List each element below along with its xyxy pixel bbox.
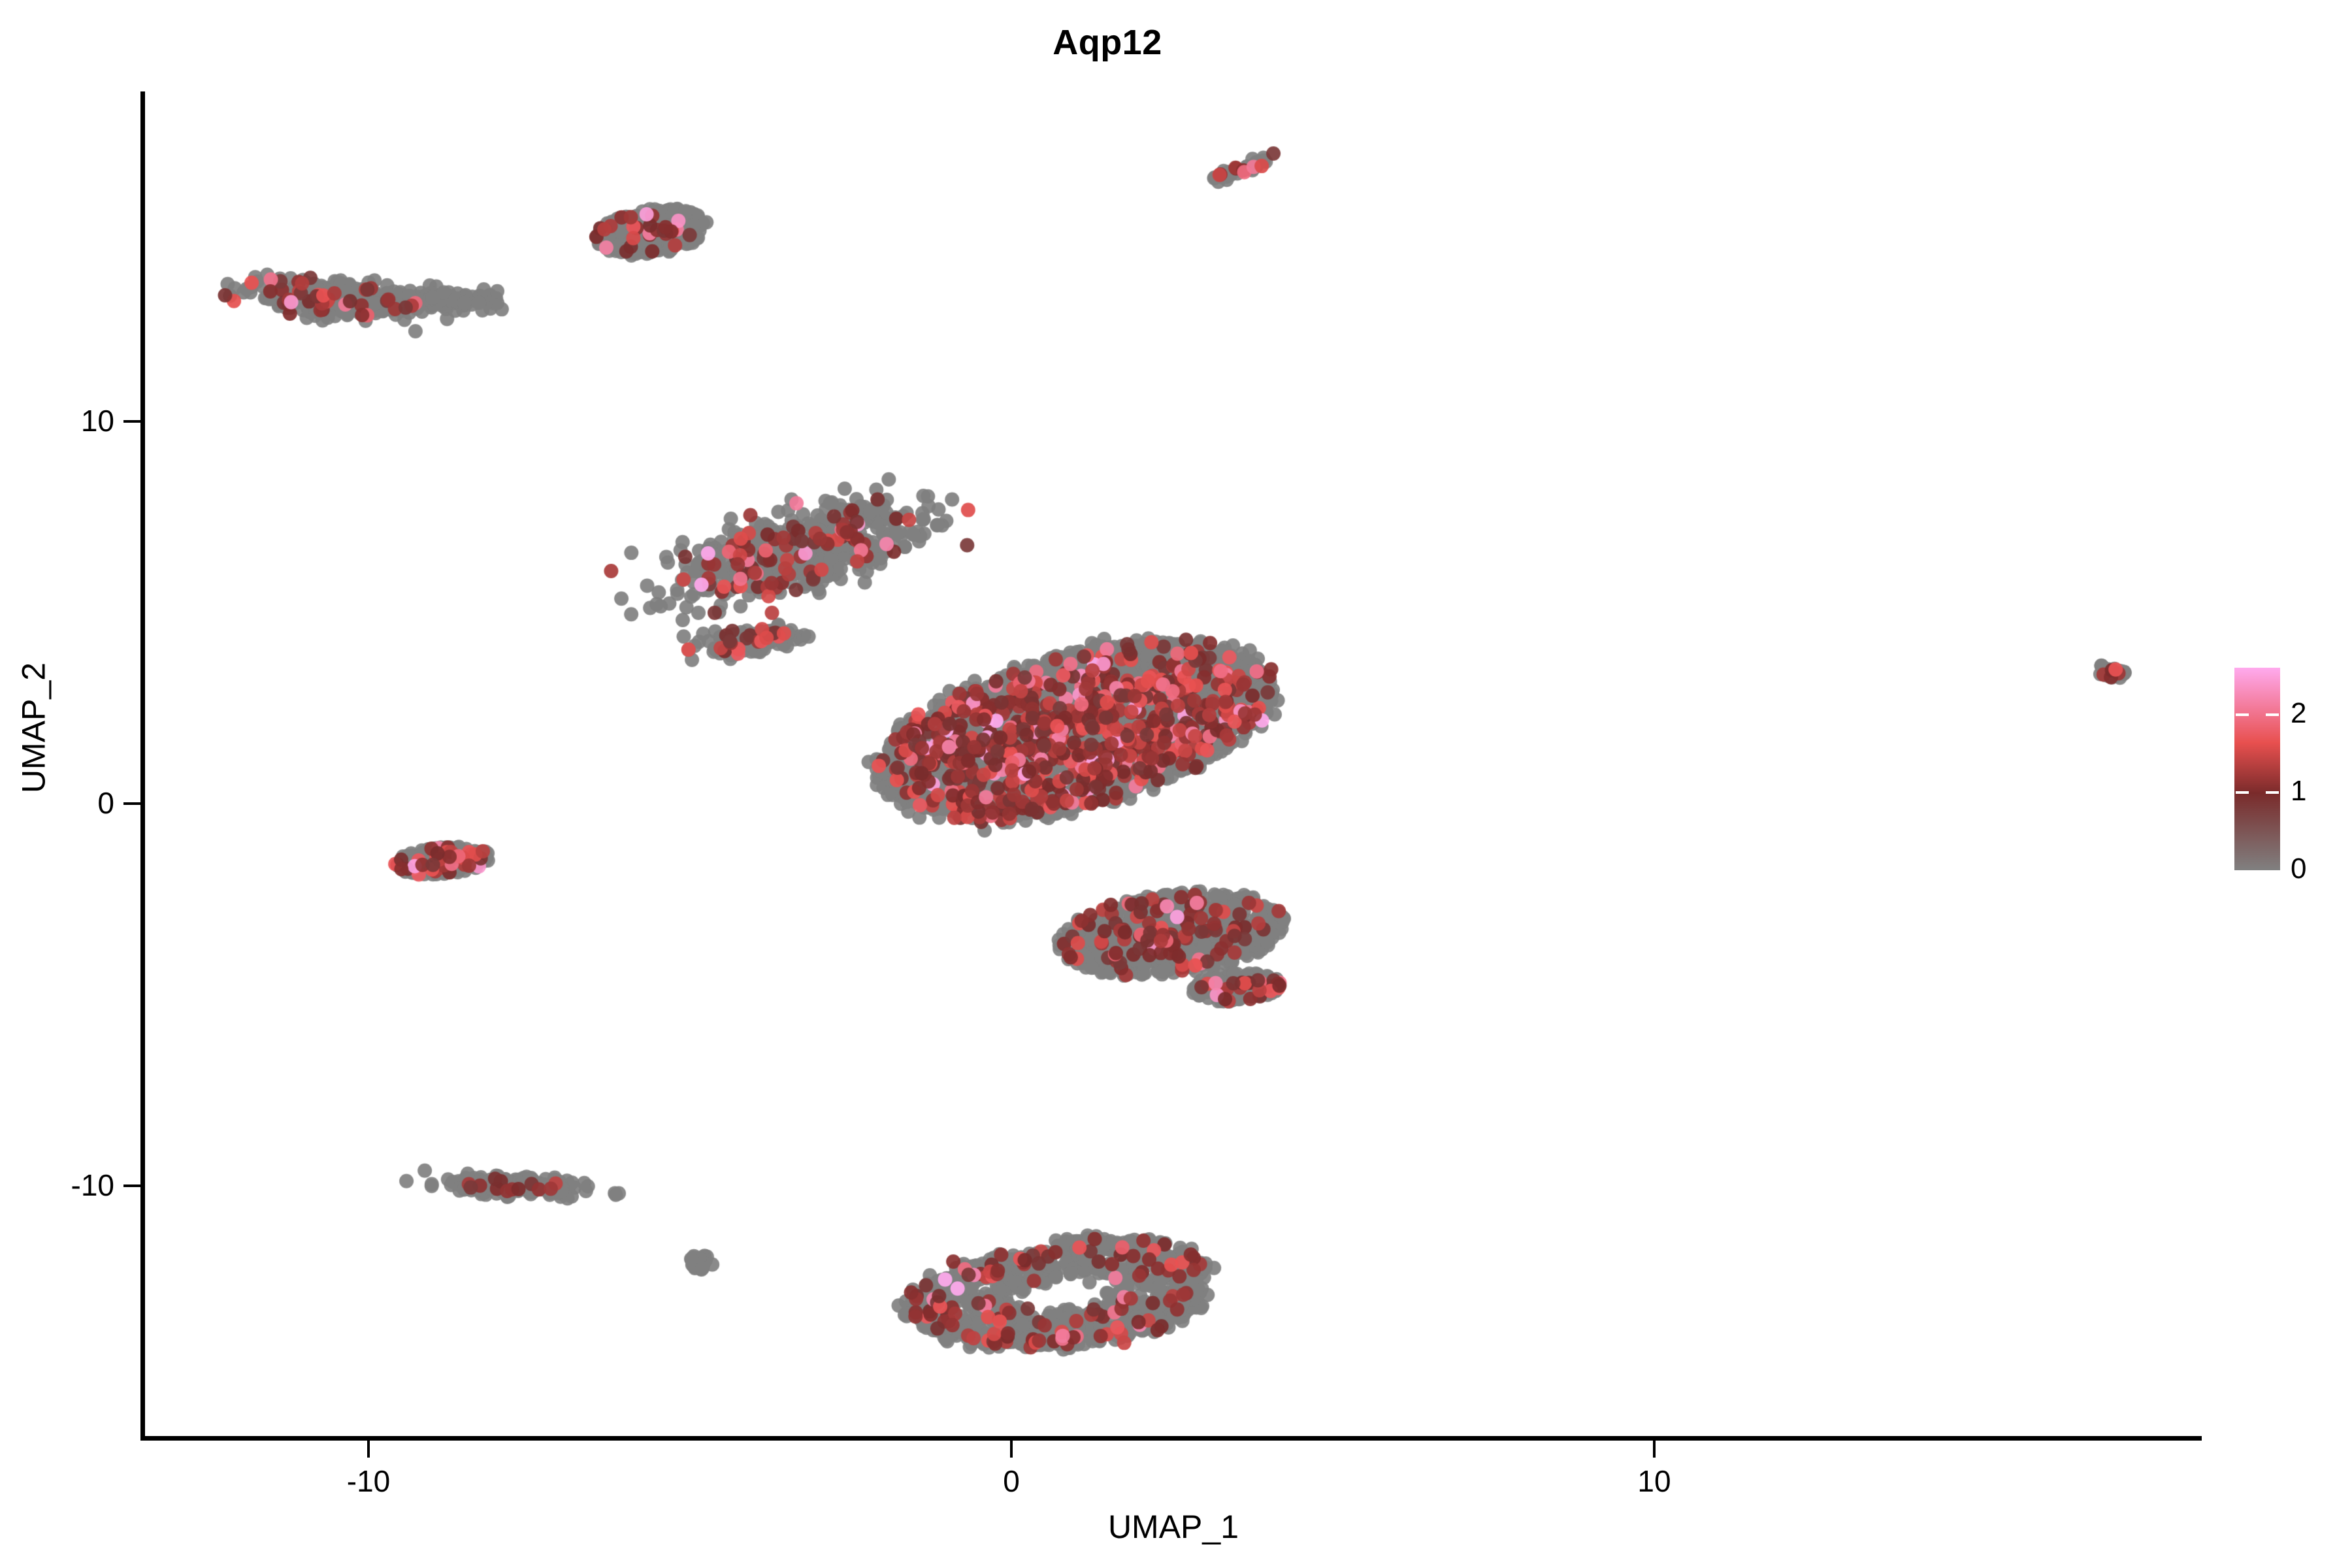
x-ticklabel-10: 10 xyxy=(1576,1463,1733,1499)
colorbar-tickmark-1 xyxy=(2236,791,2249,794)
colorbar-tickmark-2 xyxy=(2266,713,2279,716)
y-axis-label: UMAP_2 xyxy=(15,54,53,1402)
umap-figure: Aqp12 -10010 100-10 UMAP_1 UMAP_2 210 xyxy=(0,0,2352,1568)
colorbar-label-1: 1 xyxy=(2291,777,2306,806)
x-ticklabel--10: -10 xyxy=(290,1463,447,1499)
y-tick-10 xyxy=(123,420,140,423)
colorbar-label-0: 0 xyxy=(2291,855,2306,883)
y-tick--10 xyxy=(123,1184,140,1187)
x-tick-10 xyxy=(1653,1441,1656,1458)
colorbar-label-2: 2 xyxy=(2291,699,2306,728)
x-axis-label: UMAP_1 xyxy=(144,1508,2202,1546)
plot-panel xyxy=(144,91,2202,1439)
colorbar-gradient xyxy=(2234,668,2280,870)
scatter-plot-canvas xyxy=(144,91,2202,1439)
x-axis-line xyxy=(140,1436,2202,1441)
colorbar-legend: 210 xyxy=(2234,668,2339,877)
y-tick-0 xyxy=(123,802,140,805)
x-tick-0 xyxy=(1010,1441,1013,1458)
colorbar-tickmark-2 xyxy=(2236,713,2249,716)
colorbar-tickmark-1 xyxy=(2266,791,2279,794)
y-axis-line xyxy=(140,91,145,1441)
x-ticklabel-0: 0 xyxy=(933,1463,1090,1499)
page-title: Aqp12 xyxy=(0,22,2215,63)
x-tick--10 xyxy=(367,1441,370,1458)
